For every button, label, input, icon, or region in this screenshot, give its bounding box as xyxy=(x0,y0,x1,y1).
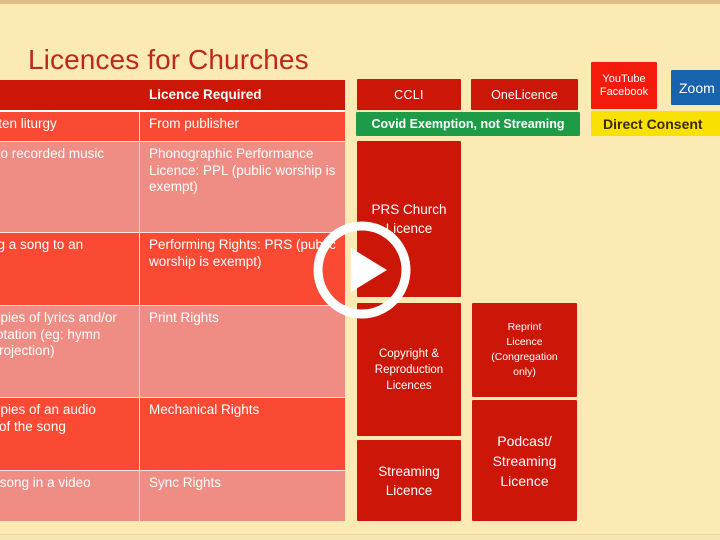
table-row: Using the song in a video Sync Rights xyxy=(0,470,345,521)
cell-activity: Using the song in a video xyxy=(0,471,140,521)
label-reprint-line1: Reprint xyxy=(491,320,558,335)
cell-activity: Making copies of an audio recording of t… xyxy=(0,398,140,470)
label-ccli: CCLI xyxy=(357,79,461,110)
table-row: Making copies of an audio recording of t… xyxy=(0,397,345,470)
slide-bottom-edge-strip xyxy=(0,534,720,540)
label-facebook-text: Facebook xyxy=(600,86,648,99)
label-direct-consent: Direct Consent xyxy=(591,111,720,136)
cell-licence: From publisher xyxy=(140,112,345,141)
label-copyright-line2: Reproduction xyxy=(375,362,443,378)
table-row: Making copies of lyrics and/or musical n… xyxy=(0,305,345,397)
label-direct-consent-text: Direct Consent xyxy=(603,116,703,132)
slide-top-edge-strip xyxy=(0,0,720,4)
cell-activity: Making copies of lyrics and/or musical n… xyxy=(0,306,140,397)
table-row: Listening to recorded music Phonographic… xyxy=(0,141,345,232)
cell-activity: Performing a song to an audience xyxy=(0,233,140,305)
page-title: Licences for Churches xyxy=(28,43,309,77)
label-youtube-text: YouTube xyxy=(600,73,648,86)
play-triangle-icon[interactable] xyxy=(311,219,413,321)
column-header-licence-required: Licence Required xyxy=(140,80,345,110)
label-covid-exemption: Covid Exemption, not Streaming xyxy=(356,112,580,136)
label-zoom-text: Zoom xyxy=(679,80,715,96)
label-streaming-licence: Streaming Licence xyxy=(357,440,461,521)
label-podcast-line2: Streaming xyxy=(493,451,557,471)
label-streaming-line2: Licence xyxy=(378,481,440,500)
label-zoom: Zoom xyxy=(671,70,720,105)
table-row: Performing a song to an audience Perform… xyxy=(0,232,345,305)
label-reprint-licence: Reprint Licence (Congregation only) xyxy=(472,303,577,397)
label-copyright-line3: Licences xyxy=(375,378,443,394)
cell-licence: Mechanical Rights xyxy=(140,398,345,470)
label-reprint-line4: only) xyxy=(491,365,558,380)
slide-canvas: Licences for Churches Activity Licence R… xyxy=(0,0,720,540)
label-onelicence: OneLicence xyxy=(471,79,578,110)
label-copyright-reproduction-licences: Copyright & Reproduction Licences xyxy=(357,303,461,436)
label-onelicence-text: OneLicence xyxy=(491,88,558,102)
play-button[interactable] xyxy=(311,219,413,321)
licence-table: Activity Licence Required Using written … xyxy=(0,80,345,521)
label-reprint-line2: Licence xyxy=(491,335,558,350)
label-podcast-line3: Licence xyxy=(493,471,557,491)
label-podcast-line1: Podcast/ xyxy=(493,431,557,451)
label-streaming-line1: Streaming xyxy=(378,462,440,481)
label-covid-exemption-text: Covid Exemption, not Streaming xyxy=(371,117,564,131)
cell-licence: Sync Rights xyxy=(140,471,345,521)
label-podcast-streaming-licence: Podcast/ Streaming Licence xyxy=(472,400,577,521)
label-youtube-facebook: YouTube Facebook xyxy=(591,62,657,109)
cell-activity: Listening to recorded music xyxy=(0,142,140,232)
cell-activity: Using written liturgy xyxy=(0,112,140,141)
label-ccli-text: CCLI xyxy=(394,88,424,102)
column-header-activity: Activity xyxy=(0,80,140,110)
table-row: Using written liturgy From publisher xyxy=(0,110,345,141)
label-prs-line1: PRS Church xyxy=(371,200,446,219)
table-header-row: Activity Licence Required xyxy=(0,80,345,110)
label-reprint-line3: (Congregation xyxy=(491,350,558,365)
label-copyright-line1: Copyright & xyxy=(375,346,443,362)
